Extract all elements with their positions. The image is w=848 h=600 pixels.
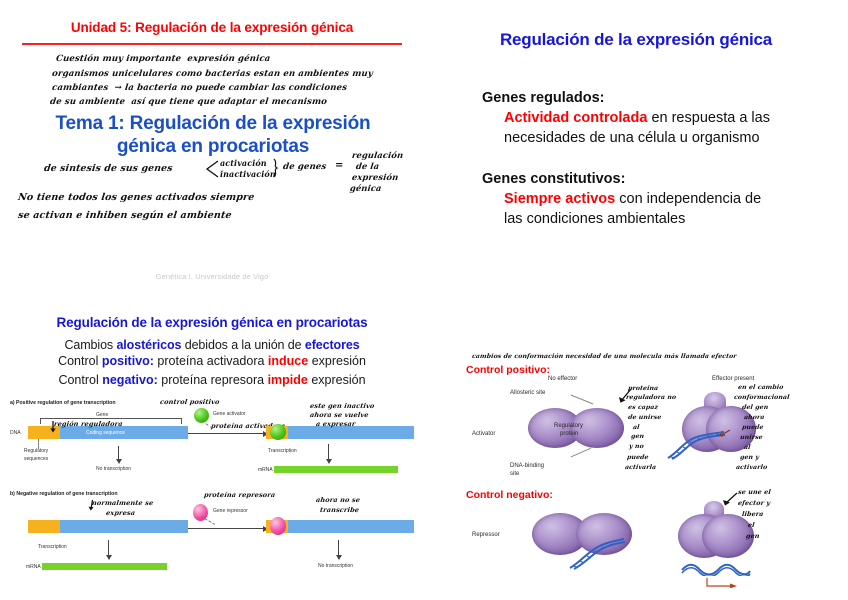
hw-neg-4: el (748, 521, 756, 529)
hw-result-line2: de la (355, 161, 379, 171)
hw-left-2: reguladora no (626, 394, 677, 401)
hw-br-subtitle: cambios de conformación necesidad de una… (472, 353, 737, 360)
hw-gene-inactive-3: a expresar (316, 420, 356, 428)
hw-neg-2: efector y (738, 499, 771, 507)
hw-neg-5: gen (746, 532, 760, 540)
label-transcription-a: Transcription (268, 448, 297, 454)
br-title-c: debidos a la unión de (181, 338, 305, 352)
mrna-bar-b (42, 563, 167, 570)
label-regulatory-1: Regulatory (24, 448, 48, 454)
label-no-effector: No effector (548, 376, 577, 382)
hw-note-line6: No tiene todos los genes activados siemp… (17, 192, 255, 203)
bl-pos-c: proteína activadora (154, 354, 268, 368)
hw-brace-bottom: inactivación (220, 169, 276, 179)
slide-footer: Genética I. Universidade de Vigo (0, 272, 424, 281)
hw-note-line2: organismos unicelulares como bacterias e… (51, 69, 373, 79)
hw-note-line7: se activan e inhiben según el ambiente (17, 210, 232, 221)
label-repressor: Repressor (472, 532, 500, 538)
page-title-regulacion: Regulación de la expresión génica (424, 30, 848, 50)
label-dna: DNA (10, 430, 21, 436)
bl-line-positive: Control positivo: proteína activadora in… (0, 352, 424, 371)
hw-neg-3: libera (742, 510, 764, 518)
panel-a-caption: a) Positive regulation of gene transcrip… (10, 400, 116, 406)
constitutive-emphasis: Siempre activos (504, 191, 615, 207)
hw-expressed-2: expresa (106, 509, 136, 517)
title-rule (22, 43, 402, 45)
dna-bar-b-left (28, 520, 188, 533)
bl-pos-e: expresión (308, 354, 366, 368)
label-gene-activator: Gene activator (213, 411, 246, 417)
bl-neg-b: negativo: (102, 373, 158, 387)
constitutive-heading: Genes constitutivos: (482, 169, 822, 189)
allosteric-site-leader (571, 395, 594, 405)
hw-expressed-1: normalmente se (92, 499, 154, 507)
regulated-heading: Genes regulados: (482, 88, 822, 108)
repressor-bound-icon (270, 517, 286, 535)
hw-note-line5: de sintesis de sus genes (43, 163, 173, 174)
hw-result-line1: regulación (351, 150, 403, 160)
activator-bound-icon (270, 424, 286, 440)
bl-neg-c: proteína represora (158, 373, 268, 387)
tema-title-line1: Tema 1: Regulación de la expresión (56, 113, 371, 134)
hw-right-5: puede (742, 424, 764, 431)
label-regulatory-protein-2: protein (560, 431, 578, 437)
hw-not-transcribed-2: transcribe (320, 506, 360, 514)
bl-pos-a: Control (58, 354, 102, 368)
hw-gene-inactive-1: este gen inactivo (310, 402, 375, 410)
arrow-no-transcription-a (118, 446, 119, 460)
hw-note-line3: cambiantes → la bacteria no puede cambia… (51, 83, 347, 93)
panel-b-caption: b) Negative regulation of gene transcrip… (10, 491, 118, 497)
hw-left-7: y no (629, 443, 645, 450)
hw-right-7: al (744, 444, 751, 451)
br-title-d: efectores (305, 338, 360, 352)
label-gene: Gene (96, 412, 108, 418)
regulated-body-line2: necesidades de una célula u organismo (504, 128, 822, 148)
tema-title: Tema 1: Regulación de la expresión génic… (28, 112, 398, 158)
hw-right-4: ahora (744, 414, 765, 421)
hw-brace-lt (205, 160, 219, 178)
hw-result-line4: génica (349, 183, 382, 193)
hw-left-6: gen (631, 433, 645, 440)
hw-brace-tail: de genes (282, 162, 327, 172)
bl-control-lines: Control positivo: proteína activadora in… (0, 352, 424, 389)
effector-red-arrow (717, 425, 731, 434)
dna-binding-leader (571, 448, 592, 458)
label-no-transcription-b: No transcription (318, 563, 353, 569)
dna-strand-repressor (568, 538, 626, 570)
arrow-a-to-right (188, 433, 264, 434)
hw-panel-a-title: control positivo (160, 398, 221, 406)
arrow-no-transcription-b (338, 540, 339, 556)
hw-equals: = (335, 160, 343, 171)
hw-left-5: al (633, 424, 640, 431)
dna-bar-b-right (266, 520, 414, 533)
label-no-transcription-a: No transcription (96, 466, 131, 472)
hw-brace-rt (272, 158, 281, 178)
hw-result-line3: expresión (351, 172, 399, 182)
label-mrna-a: mRNA (258, 467, 273, 473)
bl-neg-a: Control (58, 373, 102, 387)
hw-not-transcribed-1: ahora no se (316, 496, 361, 504)
handout-page: Unidad 5: Regulación de la expresión gén… (0, 0, 848, 600)
mrna-bar-a (274, 466, 398, 473)
bl-pos-b: positivo: (102, 354, 154, 368)
hw-left-4: de unirse (628, 414, 662, 421)
hw-gene-inactive-2: ahora se vuelve (310, 411, 370, 419)
constitutive-body-line1: Siempre activos con independencia de (504, 189, 822, 209)
label-regulatory-protein-1: Regulatory (554, 423, 583, 429)
hw-brace-top: activación (220, 158, 267, 168)
slide-top-left: Unidad 5: Regulación de la expresión gén… (0, 0, 424, 300)
label-gene-repressor: Gene repressor (213, 508, 248, 514)
hw-region-reguladora: región reguladora (54, 420, 124, 428)
arrow-transcription-b (108, 540, 109, 556)
hw-expressed-arrow (88, 498, 96, 509)
hw-left-3: es capaz (628, 404, 659, 411)
bl-title: Regulación de la expresión génica en pro… (0, 315, 424, 330)
br-title: Cambios alostéricos debidos a la unión d… (0, 338, 424, 352)
hw-left-8: puede (627, 454, 649, 461)
hw-right-2: conformacional (734, 394, 790, 401)
dna-strand-free (680, 562, 752, 576)
hw-proteina-represora: proteína represora (204, 491, 276, 499)
gene-regulation-diagram: a) Positive regulation of gene transcrip… (8, 398, 416, 590)
label-dna-binding-1: DNA-binding (510, 463, 544, 469)
hw-right-3: del gen (742, 404, 769, 411)
regulated-genes-block: Genes regulados: Actividad controlada en… (482, 88, 822, 229)
hw-neg-arrow (722, 492, 738, 506)
arrow-transcription-a (328, 444, 329, 460)
br-title-b: alostéricos (116, 338, 181, 352)
bl-neg-e: expresión (308, 373, 366, 387)
red-bracket-marker (706, 575, 740, 585)
constitutive-rest: con independencia de (615, 191, 761, 207)
label-mrna-b: mRNA (26, 564, 41, 570)
tema-title-line2: génica en procariotas (117, 136, 309, 157)
slide-top-right: Regulación de la expresión génica Genes … (424, 0, 848, 300)
bl-neg-d: impide (268, 373, 308, 387)
label-coding-sequence: Coding sequence (86, 430, 125, 436)
hw-note-line4: de su ambiente así que tiene que adaptar… (49, 97, 327, 107)
bl-line-negative: Control negativo: proteína represora imp… (0, 371, 424, 390)
hw-region-arrow (49, 420, 57, 432)
regulated-body-line1: Actividad controlada en respuesta a las (504, 108, 822, 128)
hw-neg-1: se une el (738, 488, 772, 496)
label-effector-present: Effector present (712, 376, 754, 382)
hw-note-line1: Cuestión muy importante expresión génica (55, 54, 271, 64)
arrow-b-to-right (188, 528, 264, 529)
hw-right-1: en el cambio (738, 384, 784, 391)
label-activator: Activator (472, 431, 495, 437)
hw-left-9: activarla (625, 464, 657, 471)
hw-right-8: gen y (740, 454, 760, 461)
regulated-emphasis: Actividad controlada (504, 110, 647, 126)
hw-right-6: unirse (740, 434, 764, 441)
label-dna-binding-2: site (510, 471, 519, 477)
bl-pos-d: induce (268, 354, 308, 368)
label-allosteric-site: Allosteric site (510, 390, 545, 396)
label-transcription-b: Transcription (38, 544, 67, 550)
constitutive-body-line2: las condiciones ambientales (504, 209, 822, 229)
label-regulatory-2: sequences (24, 456, 48, 462)
unit-title: Unidad 5: Regulación de la expresión gén… (0, 20, 424, 35)
br-title-a: Cambios (64, 338, 116, 352)
hw-left-1: proteina (628, 385, 659, 392)
hw-right-9: activarlo (736, 464, 768, 471)
allosteric-protein-diagram: No effector Effector present Allosteric … (470, 368, 842, 596)
regulated-rest: en respuesta a las (647, 110, 770, 126)
